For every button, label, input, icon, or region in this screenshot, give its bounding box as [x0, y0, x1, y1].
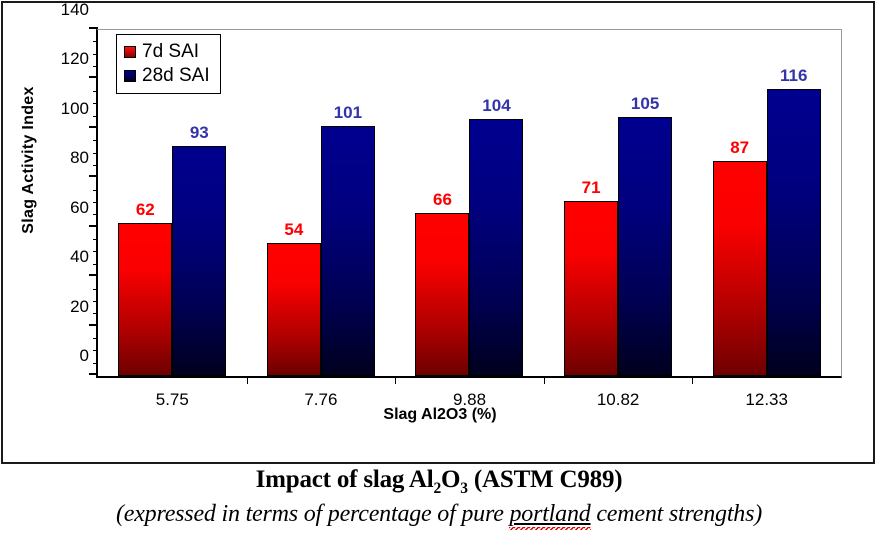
chart-frame: Slag Activity Index 020406080100120140 6… — [1, 1, 875, 464]
bar-value-label: 101 — [334, 103, 362, 123]
bar-28d-sai[interactable]: 105 — [618, 117, 672, 377]
bar-value-label: 105 — [631, 94, 659, 114]
bar-value-label: 104 — [482, 96, 510, 116]
x-tick — [544, 376, 545, 384]
y-tick-label: 140 — [61, 0, 89, 20]
caption-title-sub-2: 2 — [433, 480, 441, 497]
y-axis-title: Slag Activity Index — [20, 70, 38, 250]
x-tick — [395, 376, 396, 384]
legend-label: 28d SAI — [142, 65, 210, 87]
y-tick-label: 0 — [80, 346, 89, 366]
legend-item[interactable]: 28d SAI — [124, 64, 210, 88]
bar-7d-sai[interactable]: 62 — [118, 223, 172, 376]
bar-28d-sai[interactable]: 116 — [767, 89, 821, 376]
bar-group: 87116 — [692, 30, 841, 376]
bar-group: 54101 — [247, 30, 396, 376]
bar-28d-sai[interactable]: 93 — [172, 146, 226, 376]
legend-swatch-icon — [124, 70, 136, 82]
chart-caption: Impact of slag Al2O3 (ASTM C989) (expres… — [0, 466, 878, 529]
bar-value-label: 54 — [284, 220, 303, 240]
y-tick-major — [89, 373, 98, 375]
caption-title-suffix: (ASTM C989) — [468, 466, 623, 493]
x-axis-title-text: Slag Al2O3 (%) — [383, 406, 496, 423]
bar-group: 71105 — [544, 30, 693, 376]
caption-subtitle-suffix: cement strengths) — [591, 501, 762, 527]
legend: 7d SAI28d SAI — [116, 34, 221, 94]
bar-7d-sai[interactable]: 87 — [713, 161, 767, 376]
y-tick-major — [89, 76, 98, 78]
caption-title-sub-3: 3 — [460, 480, 468, 497]
bar-28d-sai[interactable]: 101 — [321, 126, 375, 376]
y-tick-label: 100 — [61, 99, 89, 119]
x-axis-title: Slag Al2O3 (%) — [3, 406, 877, 424]
bar-value-label: 66 — [433, 190, 452, 210]
caption-title-prefix: Impact of slag Al — [256, 466, 434, 493]
caption-title: Impact of slag Al2O3 (ASTM C989) — [0, 466, 878, 498]
bar-value-label: 87 — [730, 138, 749, 158]
y-tick-major — [89, 126, 98, 128]
misspelled-word: portland — [509, 501, 590, 530]
bar-value-label: 62 — [136, 200, 155, 220]
x-tick — [692, 376, 693, 384]
bar-7d-sai[interactable]: 66 — [415, 213, 469, 376]
bar-group: 66104 — [395, 30, 544, 376]
y-tick-label: 20 — [70, 297, 89, 317]
caption-subtitle-prefix: (expressed in terms of percentage of pur… — [116, 501, 510, 527]
y-tick-label: 60 — [70, 198, 89, 218]
bar-value-label: 71 — [582, 178, 601, 198]
y-tick-major — [89, 27, 98, 29]
legend-label: 7d SAI — [142, 41, 199, 63]
legend-item[interactable]: 7d SAI — [124, 40, 210, 64]
y-tick-major — [89, 175, 98, 177]
chart-page: Slag Activity Index 020406080100120140 6… — [0, 0, 878, 545]
y-tick-label: 40 — [70, 247, 89, 267]
x-tick — [247, 376, 248, 384]
caption-subtitle: (expressed in terms of percentage of pur… — [0, 500, 878, 529]
caption-title-mid: O — [441, 466, 460, 493]
bar-value-label: 93 — [190, 123, 209, 143]
bar-value-label: 116 — [780, 66, 807, 86]
y-tick-label: 120 — [61, 49, 89, 69]
bar-28d-sai[interactable]: 104 — [469, 119, 523, 376]
legend-swatch-icon — [124, 46, 136, 58]
bar-7d-sai[interactable]: 54 — [267, 243, 321, 376]
y-tick-major — [89, 274, 98, 276]
y-tick-major — [89, 225, 98, 227]
bar-7d-sai[interactable]: 71 — [564, 201, 618, 376]
y-tick-label: 80 — [70, 148, 89, 168]
y-tick-major — [89, 324, 98, 326]
